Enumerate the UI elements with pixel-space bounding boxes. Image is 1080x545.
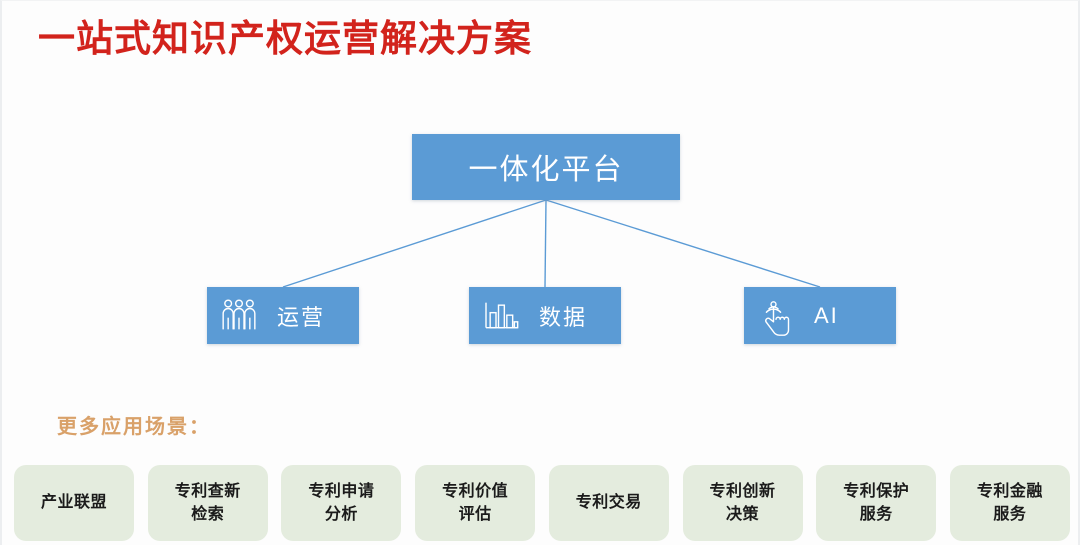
scenario-label: 产业联盟 bbox=[41, 491, 107, 514]
scenario-box[interactable]: 专利金融 服务 bbox=[950, 465, 1070, 541]
scenario-box[interactable]: 专利创新 决策 bbox=[683, 465, 803, 541]
scenario-label: 专利创新 决策 bbox=[710, 480, 776, 526]
scenario-label: 专利申请 分析 bbox=[308, 480, 374, 526]
scenario-label: 专利交易 bbox=[576, 491, 642, 514]
scenario-label: 专利金融 服务 bbox=[977, 480, 1043, 526]
platform-hierarchy-diagram: 一体化平台 运营 bbox=[2, 1, 1080, 461]
connector-line-middle bbox=[545, 200, 546, 287]
node-ai-label: AI bbox=[814, 303, 839, 329]
scenario-box[interactable]: 专利保护 服务 bbox=[816, 465, 936, 541]
scenario-box[interactable]: 产业联盟 bbox=[14, 465, 134, 541]
scenario-box[interactable]: 专利申请 分析 bbox=[281, 465, 401, 541]
scenario-box[interactable]: 专利交易 bbox=[549, 465, 669, 541]
touch-hand-icon bbox=[756, 296, 796, 336]
node-data-label: 数据 bbox=[539, 300, 587, 332]
people-group-icon bbox=[219, 296, 259, 336]
node-data[interactable]: 数据 bbox=[469, 287, 621, 344]
scenario-label: 专利查新 检索 bbox=[175, 480, 241, 526]
scenario-label: 专利价值 评估 bbox=[442, 480, 508, 526]
scenario-box[interactable]: 专利价值 评估 bbox=[415, 465, 535, 541]
connector-line-left bbox=[283, 200, 546, 287]
bar-chart-icon bbox=[481, 296, 521, 336]
node-ai[interactable]: AI bbox=[744, 287, 896, 344]
connector-line-right bbox=[546, 200, 820, 287]
node-platform-label: 一体化平台 bbox=[468, 146, 623, 188]
scenario-label: 专利保护 服务 bbox=[843, 480, 909, 526]
connector-lines bbox=[2, 1, 1080, 461]
scenario-box[interactable]: 专利查新 检索 bbox=[148, 465, 268, 541]
scenario-box-row: 产业联盟 专利查新 检索 专利申请 分析 专利价值 评估 专利交易 专利创新 决… bbox=[14, 465, 1070, 541]
node-operations[interactable]: 运营 bbox=[207, 287, 359, 344]
slide-canvas: 一站式知识产权运营解决方案 一体化平台 运营 bbox=[0, 0, 1080, 545]
node-operations-label: 运营 bbox=[277, 300, 325, 332]
more-scenarios-label: 更多应用场景： bbox=[57, 410, 211, 439]
node-platform[interactable]: 一体化平台 bbox=[412, 134, 680, 200]
